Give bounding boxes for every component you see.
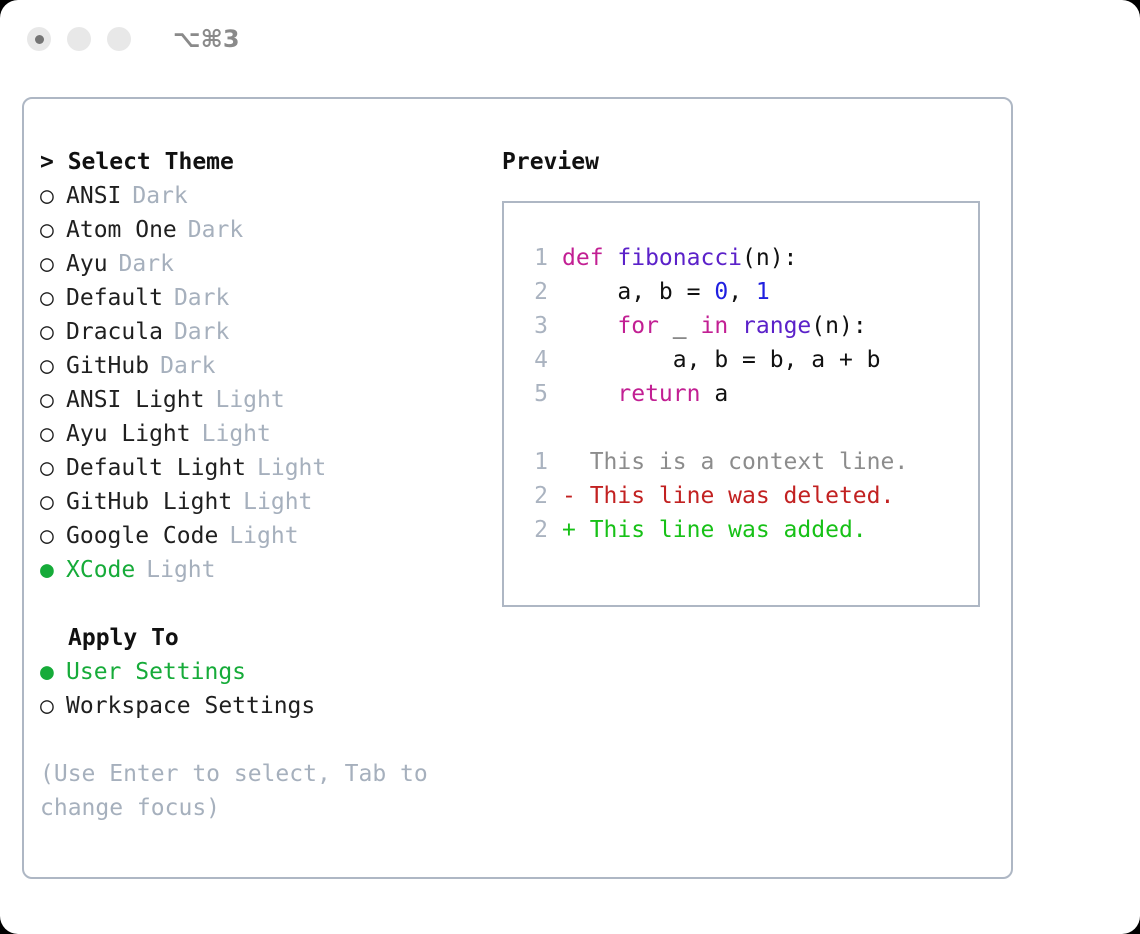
theme-option-10[interactable]: ○Google CodeLight (40, 519, 490, 553)
title-bar: ⌥⌘3 (0, 0, 1140, 78)
theme-option-11[interactable]: ●XCodeLight (40, 553, 490, 587)
line-content: a, b = b, a + b (562, 343, 881, 377)
radio-unselected-icon: ○ (40, 451, 66, 485)
token-plain: a, b = b, a + b (562, 347, 881, 373)
radio-unselected-icon: ○ (40, 315, 66, 349)
option-variant-tag: Dark (174, 281, 229, 315)
apply-to-option-list: ●User Settings○Workspace Settings (40, 655, 490, 723)
token-num: 1 (756, 279, 770, 305)
line-content: return a (562, 377, 728, 411)
radio-unselected-icon: ○ (40, 281, 66, 315)
token-add: + This line was added. (562, 517, 867, 543)
radio-selected-icon: ● (40, 553, 66, 587)
line-content: a, b = 0, 1 (562, 275, 770, 309)
apply-to-option-1[interactable]: ○Workspace Settings (40, 689, 490, 723)
option-label: GitHub (66, 349, 149, 383)
token-kw: in (700, 313, 728, 339)
line-number: 1 (522, 241, 548, 275)
code-line-4: 5 return a (504, 377, 978, 411)
diff-line-0: 1 This is a context line. (504, 445, 978, 479)
line-content: This is a context line. (562, 445, 908, 479)
token-plain (728, 313, 742, 339)
token-fn: range (742, 313, 811, 339)
option-label: Dracula (66, 315, 163, 349)
code-sample: 1def fibonacci(n):2 a, b = 0, 13 for _ i… (504, 241, 978, 411)
select-theme-heading: > Select Theme (40, 145, 490, 179)
theme-option-7[interactable]: ○Ayu LightLight (40, 417, 490, 451)
theme-option-3[interactable]: ○DefaultDark (40, 281, 490, 315)
theme-option-6[interactable]: ○ANSI LightLight (40, 383, 490, 417)
code-line-1: 2 a, b = 0, 1 (504, 275, 978, 309)
option-variant-tag: Dark (119, 247, 174, 281)
radio-selected-icon: ● (40, 655, 66, 689)
token-plain: a, b = (562, 279, 714, 305)
option-label: ANSI Light (66, 383, 204, 417)
option-variant-tag: Dark (160, 349, 215, 383)
option-variant-tag: Light (243, 485, 312, 519)
theme-option-9[interactable]: ○GitHub LightLight (40, 485, 490, 519)
radio-unselected-icon: ○ (40, 519, 66, 553)
option-variant-tag: Light (257, 451, 326, 485)
option-variant-tag: Dark (188, 213, 243, 247)
line-number: 2 (522, 275, 548, 309)
window-dot-third[interactable] (107, 27, 131, 51)
code-diff-gap (504, 411, 978, 445)
option-variant-tag: Dark (174, 315, 229, 349)
option-label: Atom One (66, 213, 177, 247)
diff-line-1: 2- This line was deleted. (504, 479, 978, 513)
list-spacer (40, 587, 490, 621)
line-number: 5 (522, 377, 548, 411)
option-label: XCode (66, 553, 135, 587)
option-variant-tag: Light (202, 417, 271, 451)
line-number: 4 (522, 343, 548, 377)
radio-unselected-icon: ○ (40, 349, 66, 383)
token-plain: , (728, 279, 756, 305)
option-label: Default Light (66, 451, 246, 485)
preview-column: Preview 1def fibonacci(n):2 a, b = 0, 13… (502, 145, 1002, 607)
theme-option-4[interactable]: ○DraculaDark (40, 315, 490, 349)
option-variant-tag: Light (146, 553, 215, 587)
token-plain (562, 381, 617, 407)
theme-option-0[interactable]: ○ANSIDark (40, 179, 490, 213)
line-content: + This line was added. (562, 513, 867, 547)
preview-box: 1def fibonacci(n):2 a, b = 0, 13 for _ i… (502, 201, 980, 607)
token-del: - This line was deleted. (562, 483, 894, 509)
option-label: Workspace Settings (66, 689, 315, 723)
token-plain: (n): (742, 245, 797, 271)
keyboard-hint-text: (Use Enter to select, Tab to change focu… (40, 757, 440, 825)
radio-unselected-icon: ○ (40, 485, 66, 519)
app-window: ⌥⌘3 > Select Theme ○ANSIDark○Atom OneDar… (0, 0, 1140, 934)
line-content: def fibonacci(n): (562, 241, 797, 275)
line-number: 1 (522, 445, 548, 479)
theme-option-list: ○ANSIDark○Atom OneDark○AyuDark○DefaultDa… (40, 179, 490, 587)
token-fn: fibonacci (617, 245, 742, 271)
preview-heading: Preview (502, 145, 1002, 179)
code-line-2: 3 for _ in range(n): (504, 309, 978, 343)
radio-unselected-icon: ○ (40, 383, 66, 417)
option-label: Default (66, 281, 163, 315)
apply-to-heading: Apply To (40, 621, 490, 655)
radio-unselected-icon: ○ (40, 417, 66, 451)
diff-sample: 1 This is a context line.2- This line wa… (504, 445, 978, 547)
theme-option-8[interactable]: ○Default LightLight (40, 451, 490, 485)
theme-selection-column: > Select Theme ○ANSIDark○Atom OneDark○Ay… (40, 145, 490, 825)
window-dot-second[interactable] (67, 27, 91, 51)
line-number: 2 (522, 513, 548, 547)
radio-unselected-icon: ○ (40, 179, 66, 213)
token-plain (562, 313, 617, 339)
token-plain: a (700, 381, 728, 407)
code-line-3: 4 a, b = b, a + b (504, 343, 978, 377)
theme-option-2[interactable]: ○AyuDark (40, 247, 490, 281)
option-label: Ayu (66, 247, 108, 281)
line-number: 2 (522, 479, 548, 513)
keyboard-shortcut-label: ⌥⌘3 (173, 25, 240, 53)
diff-line-2: 2+ This line was added. (504, 513, 978, 547)
line-number: 3 (522, 309, 548, 343)
token-kw: return (617, 381, 700, 407)
code-line-0: 1def fibonacci(n): (504, 241, 978, 275)
option-label: GitHub Light (66, 485, 232, 519)
line-content: for _ in range(n): (562, 309, 867, 343)
token-kw: def (562, 245, 617, 271)
theme-option-1[interactable]: ○Atom OneDark (40, 213, 490, 247)
option-label: Ayu Light (66, 417, 191, 451)
token-num: 0 (714, 279, 728, 305)
token-plain: (n): (811, 313, 866, 339)
theme-picker-panel: > Select Theme ○ANSIDark○Atom OneDark○Ay… (22, 97, 1013, 879)
window-dot-active[interactable] (27, 27, 51, 51)
option-variant-tag: Light (229, 519, 298, 553)
apply-to-option-0[interactable]: ●User Settings (40, 655, 490, 689)
radio-unselected-icon: ○ (40, 213, 66, 247)
option-variant-tag: Light (215, 383, 284, 417)
option-label: Google Code (66, 519, 218, 553)
line-content: - This line was deleted. (562, 479, 894, 513)
window-controls (27, 27, 131, 51)
option-label: ANSI (66, 179, 121, 213)
token-kw: for (617, 313, 659, 339)
radio-unselected-icon: ○ (40, 689, 66, 723)
option-label: User Settings (66, 655, 246, 689)
token-ctx: This is a context line. (562, 449, 908, 475)
theme-option-5[interactable]: ○GitHubDark (40, 349, 490, 383)
radio-unselected-icon: ○ (40, 247, 66, 281)
active-dot-icon (35, 35, 44, 44)
token-plain: _ (659, 313, 701, 339)
option-variant-tag: Dark (132, 179, 187, 213)
